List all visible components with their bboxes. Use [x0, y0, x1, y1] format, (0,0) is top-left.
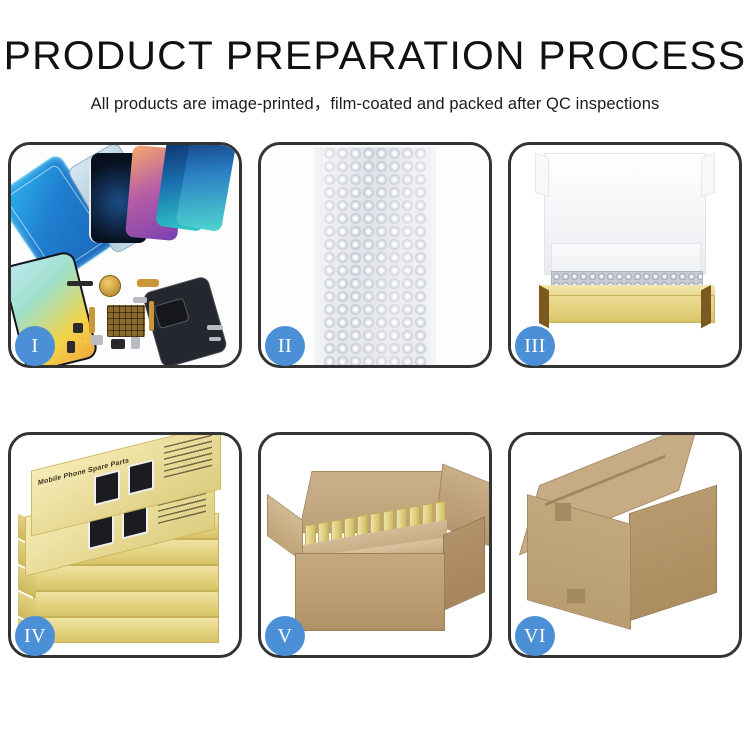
stacked-box-5	[33, 617, 219, 643]
small-part-10	[209, 337, 221, 341]
page-title: PRODUCT PREPARATION PROCESS	[0, 36, 750, 76]
box-art-screen-2	[128, 459, 154, 495]
carton-tape-upper	[555, 503, 571, 521]
small-part-7	[131, 337, 140, 349]
flex-cable-2	[149, 301, 154, 331]
stacked-box-4	[33, 591, 219, 617]
stacked-box-3	[33, 565, 219, 591]
small-part-3	[133, 297, 147, 303]
small-part-2	[137, 279, 159, 287]
small-part-6	[111, 339, 125, 349]
step-badge-2: II	[265, 326, 305, 366]
carton-flap-left	[267, 494, 303, 562]
step-panel-6[interactable]: VI	[508, 432, 742, 658]
small-part-5	[91, 335, 103, 345]
step-panel-2[interactable]: II	[258, 142, 492, 368]
step-panel-5[interactable]: V	[258, 432, 492, 658]
step-badge-5: V	[265, 616, 305, 656]
logic-board-part	[107, 305, 145, 337]
box-tray-yellow	[539, 295, 715, 323]
carton-front-face	[295, 553, 445, 631]
camera-lens-part	[99, 275, 121, 297]
box-corner-right	[701, 285, 711, 328]
phone-back-housing	[142, 275, 229, 365]
small-part-9	[207, 325, 223, 330]
step-panel-1[interactable]: I	[8, 142, 242, 368]
step-badge-6: VI	[515, 616, 555, 656]
step-badge-4: IV	[15, 616, 55, 656]
step-badge-1: I	[15, 326, 55, 366]
box-art-screen-1	[94, 469, 120, 505]
box-art-textlines-1	[164, 435, 212, 481]
small-part-8	[67, 341, 75, 353]
header: PRODUCT PREPARATION PROCESS All products…	[0, 0, 750, 114]
infographic-root: PRODUCT PREPARATION PROCESS All products…	[0, 0, 750, 750]
step-badge-3: III	[515, 326, 555, 366]
page-subtitle: All products are image-printed，film-coat…	[0, 90, 750, 114]
step-panel-4[interactable]: Mobile Phone Spare Parts Mobile Phone Sp…	[8, 432, 242, 658]
carton-tape-lower	[567, 589, 585, 603]
small-part-4	[73, 323, 83, 333]
box-lid-flap-right	[701, 153, 715, 198]
small-part-1	[67, 281, 93, 286]
box-stack: Mobile Phone Spare Parts Mobile Phone Sp…	[15, 447, 235, 647]
box-corner-left	[539, 285, 549, 328]
step-panel-3[interactable]: III	[508, 142, 742, 368]
box-lid-flap-left	[535, 153, 549, 198]
steps-grid: I II III	[8, 142, 742, 684]
flex-cable-1	[89, 307, 95, 333]
bubble-wrap-gloss	[323, 147, 427, 365]
